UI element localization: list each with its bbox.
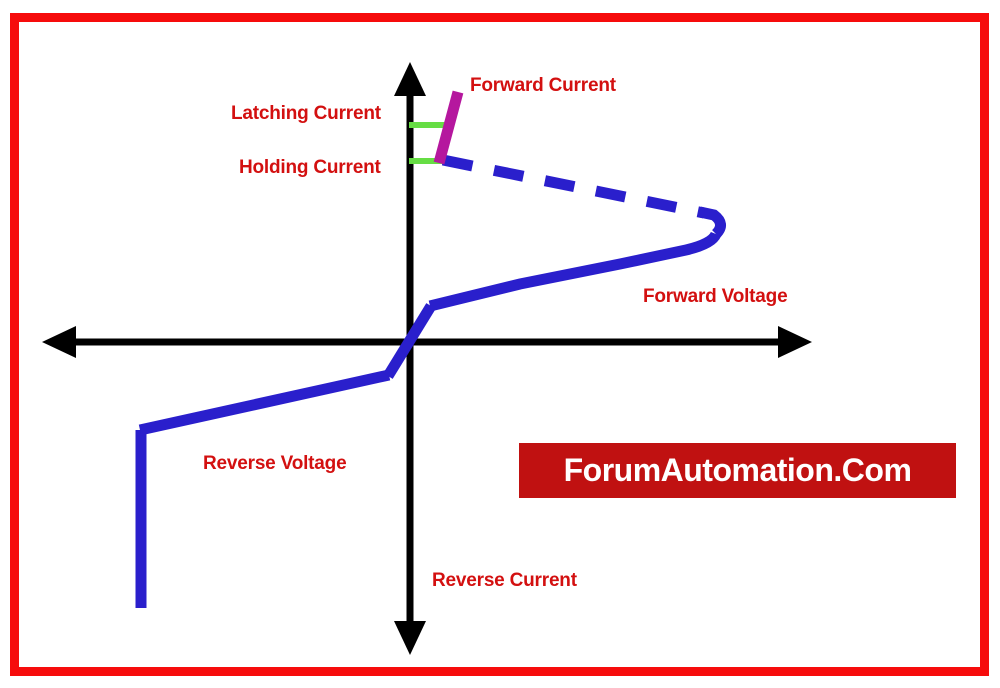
x-axis-left-arrow-icon <box>42 326 76 358</box>
watermark-text: ForumAutomation.Com <box>564 452 912 489</box>
axis-group <box>42 62 812 655</box>
y-axis-top-arrow-icon <box>394 62 426 96</box>
label-forward-voltage: Forward Voltage <box>643 286 787 308</box>
curve-group <box>140 160 721 608</box>
label-reverse-current: Reverse Current <box>432 570 577 592</box>
reverse-blocking-segment <box>140 375 389 430</box>
negative-resistance-dashed-segment <box>443 160 704 213</box>
label-forward-current: Forward Current <box>470 75 616 97</box>
watermark-banner: ForumAutomation.Com <box>519 443 956 498</box>
label-reverse-voltage: Reverse Voltage <box>203 453 346 475</box>
x-axis-right-arrow-icon <box>778 326 812 358</box>
label-latching-current: Latching Current <box>231 103 381 125</box>
label-holding-current: Holding Current <box>239 157 381 179</box>
y-axis-bottom-arrow-icon <box>394 621 426 655</box>
figure-root: Latching Current Holding Current Forward… <box>0 0 1000 688</box>
